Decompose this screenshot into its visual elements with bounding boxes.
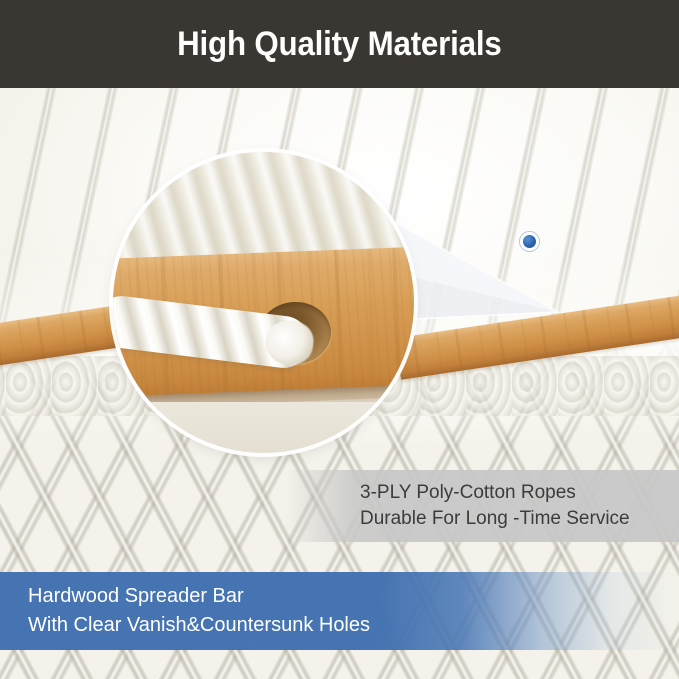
caption-ropes-text: 3-PLY Poly-Cotton Ropes Durable For Long… — [360, 480, 630, 532]
callout-dot-core — [523, 235, 536, 248]
caption-ropes: 3-PLY Poly-Cotton Ropes Durable For Long… — [0, 470, 679, 542]
page-title: High Quality Materials — [177, 25, 501, 64]
product-photo: 3-PLY Poly-Cotton Ropes Durable For Long… — [0, 88, 679, 679]
magnifier-circle — [113, 152, 414, 453]
product-feature-image: High Quality Materials — [0, 0, 679, 679]
magnifier-floor — [113, 402, 414, 453]
caption-ropes-line1: 3-PLY Poly-Cotton Ropes — [360, 480, 630, 506]
caption-ropes-line2: Durable For Long -Time Service — [360, 506, 630, 532]
callout-dot-marker — [520, 232, 539, 251]
caption-spreader-bar-line1: Hardwood Spreader Bar — [28, 582, 370, 611]
caption-spreader-bar-line2: With Clear Vanish&Countersunk Holes — [28, 611, 370, 640]
header-banner: High Quality Materials — [0, 0, 679, 88]
caption-spreader-bar-text: Hardwood Spreader Bar With Clear Vanish&… — [28, 582, 370, 640]
caption-spreader-bar: Hardwood Spreader Bar With Clear Vanish&… — [0, 572, 679, 650]
